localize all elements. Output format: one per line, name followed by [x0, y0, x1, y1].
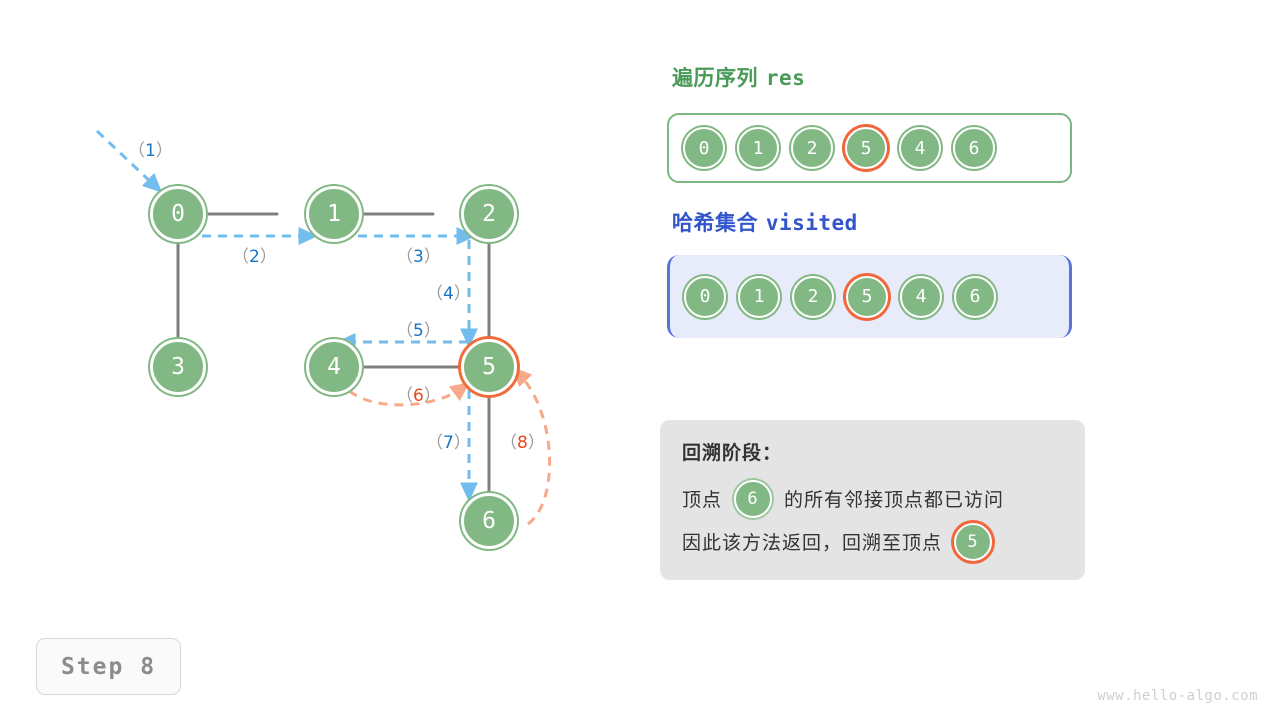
step-label-3: （3） [396, 242, 441, 267]
visited-item-5[interactable]: 6 [954, 276, 996, 318]
graph-edges-and-arrows [0, 0, 640, 620]
visited-item-1[interactable]: 1 [738, 276, 780, 318]
res-item-2-label: 2 [807, 138, 818, 159]
visited-item-0[interactable]: 0 [684, 276, 726, 318]
explanation-chip-5-label: 5 [967, 532, 978, 552]
explanation-line-1-before: 顶点 [682, 485, 722, 512]
res-item-0-label: 0 [699, 138, 710, 159]
step-badge: Step 8 [36, 638, 181, 695]
graph-node-1[interactable]: 1 [306, 186, 362, 242]
explanation-heading: 回溯阶段： [682, 438, 1063, 465]
res-item-4[interactable]: 4 [899, 127, 941, 169]
explanation-line-2: 因此该方法返回，回溯至顶点 5 [682, 520, 1063, 563]
visited-item-3-label: 5 [862, 286, 873, 307]
visited-item-4[interactable]: 4 [900, 276, 942, 318]
graph-node-0[interactable]: 0 [150, 186, 206, 242]
res-item-3[interactable]: 5 [845, 127, 887, 169]
graph-node-6[interactable]: 6 [461, 493, 517, 549]
res-item-1-label: 1 [753, 138, 764, 159]
visited-set-box: 0 1 2 5 4 6 [667, 255, 1072, 338]
visited-item-0-label: 0 [700, 286, 711, 307]
res-item-3-label: 5 [861, 138, 872, 159]
step-label-1: （1） [128, 136, 173, 161]
graph-node-0-label: 0 [171, 201, 185, 227]
step-label-5-number: 5 [413, 321, 424, 341]
visited-item-2[interactable]: 2 [792, 276, 834, 318]
step-label-2: （2） [232, 242, 277, 267]
graph-node-5-label: 5 [482, 354, 496, 380]
step-label-4: （4） [426, 279, 471, 304]
res-item-0[interactable]: 0 [683, 127, 725, 169]
step-label-7: （7） [426, 428, 471, 453]
explanation-line-1-after: 的所有邻接顶点都已访问 [784, 485, 1004, 512]
step-label-5: （5） [396, 316, 441, 341]
graph-node-4-label: 4 [327, 354, 341, 380]
explanation-line-2-before: 因此该方法返回，回溯至顶点 [682, 528, 942, 555]
visited-item-5-label: 6 [970, 286, 981, 307]
step-label-2-number: 2 [249, 247, 260, 267]
right-panel: 遍历序列 res 0 1 2 5 4 6 哈希集合 visited 0 1 2 … [660, 0, 1280, 720]
graph-node-3-label: 3 [171, 354, 185, 380]
visited-item-2-label: 2 [808, 286, 819, 307]
graph-panel: 0 1 2 3 4 5 6 （1） （2） （3） （4） （5） （6） （7… [0, 0, 640, 620]
visited-item-4-label: 4 [916, 286, 927, 307]
explanation-box: 回溯阶段： 顶点 6 的所有邻接顶点都已访问 因此该方法返回，回溯至顶点 5 [660, 420, 1085, 580]
res-item-1[interactable]: 1 [737, 127, 779, 169]
step-label-3-number: 3 [413, 247, 424, 267]
graph-node-4[interactable]: 4 [306, 339, 362, 395]
graph-node-6-label: 6 [482, 508, 496, 534]
res-section-title: 遍历序列 res [672, 62, 805, 92]
forward-traversal-arrows [97, 131, 469, 492]
explanation-chip-6: 6 [734, 480, 772, 518]
step-label-1-number: 1 [145, 141, 156, 161]
graph-node-5[interactable]: 5 [461, 339, 517, 395]
visited-section-title: 哈希集合 visited [672, 207, 858, 237]
slide-canvas: 0 1 2 3 4 5 6 （1） （2） （3） （4） （5） （6） （7… [0, 0, 1280, 720]
explanation-chip-5: 5 [954, 523, 992, 561]
graph-node-3[interactable]: 3 [150, 339, 206, 395]
res-item-2[interactable]: 2 [791, 127, 833, 169]
graph-node-2[interactable]: 2 [461, 186, 517, 242]
res-item-5-label: 6 [969, 138, 980, 159]
watermark: www.hello-algo.com [1097, 688, 1258, 704]
visited-item-1-label: 1 [754, 286, 765, 307]
step-label-7-number: 7 [443, 433, 454, 453]
visited-title-code: visited [766, 211, 858, 235]
step-label-8: （8） [500, 428, 545, 453]
step-label-6-number: 6 [413, 386, 424, 406]
res-item-5[interactable]: 6 [953, 127, 995, 169]
res-array-box: 0 1 2 5 4 6 [667, 113, 1072, 183]
res-title-cn: 遍历序列 [672, 66, 758, 90]
visited-item-3[interactable]: 5 [846, 276, 888, 318]
graph-node-2-label: 2 [482, 201, 496, 227]
step-label-6: （6） [396, 381, 441, 406]
explanation-chip-6-label: 6 [747, 489, 758, 509]
step-label-4-number: 4 [443, 284, 454, 304]
res-title-code: res [766, 66, 805, 90]
visited-title-cn: 哈希集合 [672, 211, 758, 235]
graph-node-1-label: 1 [327, 201, 341, 227]
res-item-4-label: 4 [915, 138, 926, 159]
step-label-8-number: 8 [517, 433, 528, 453]
explanation-line-1: 顶点 6 的所有邻接顶点都已访问 [682, 477, 1063, 520]
